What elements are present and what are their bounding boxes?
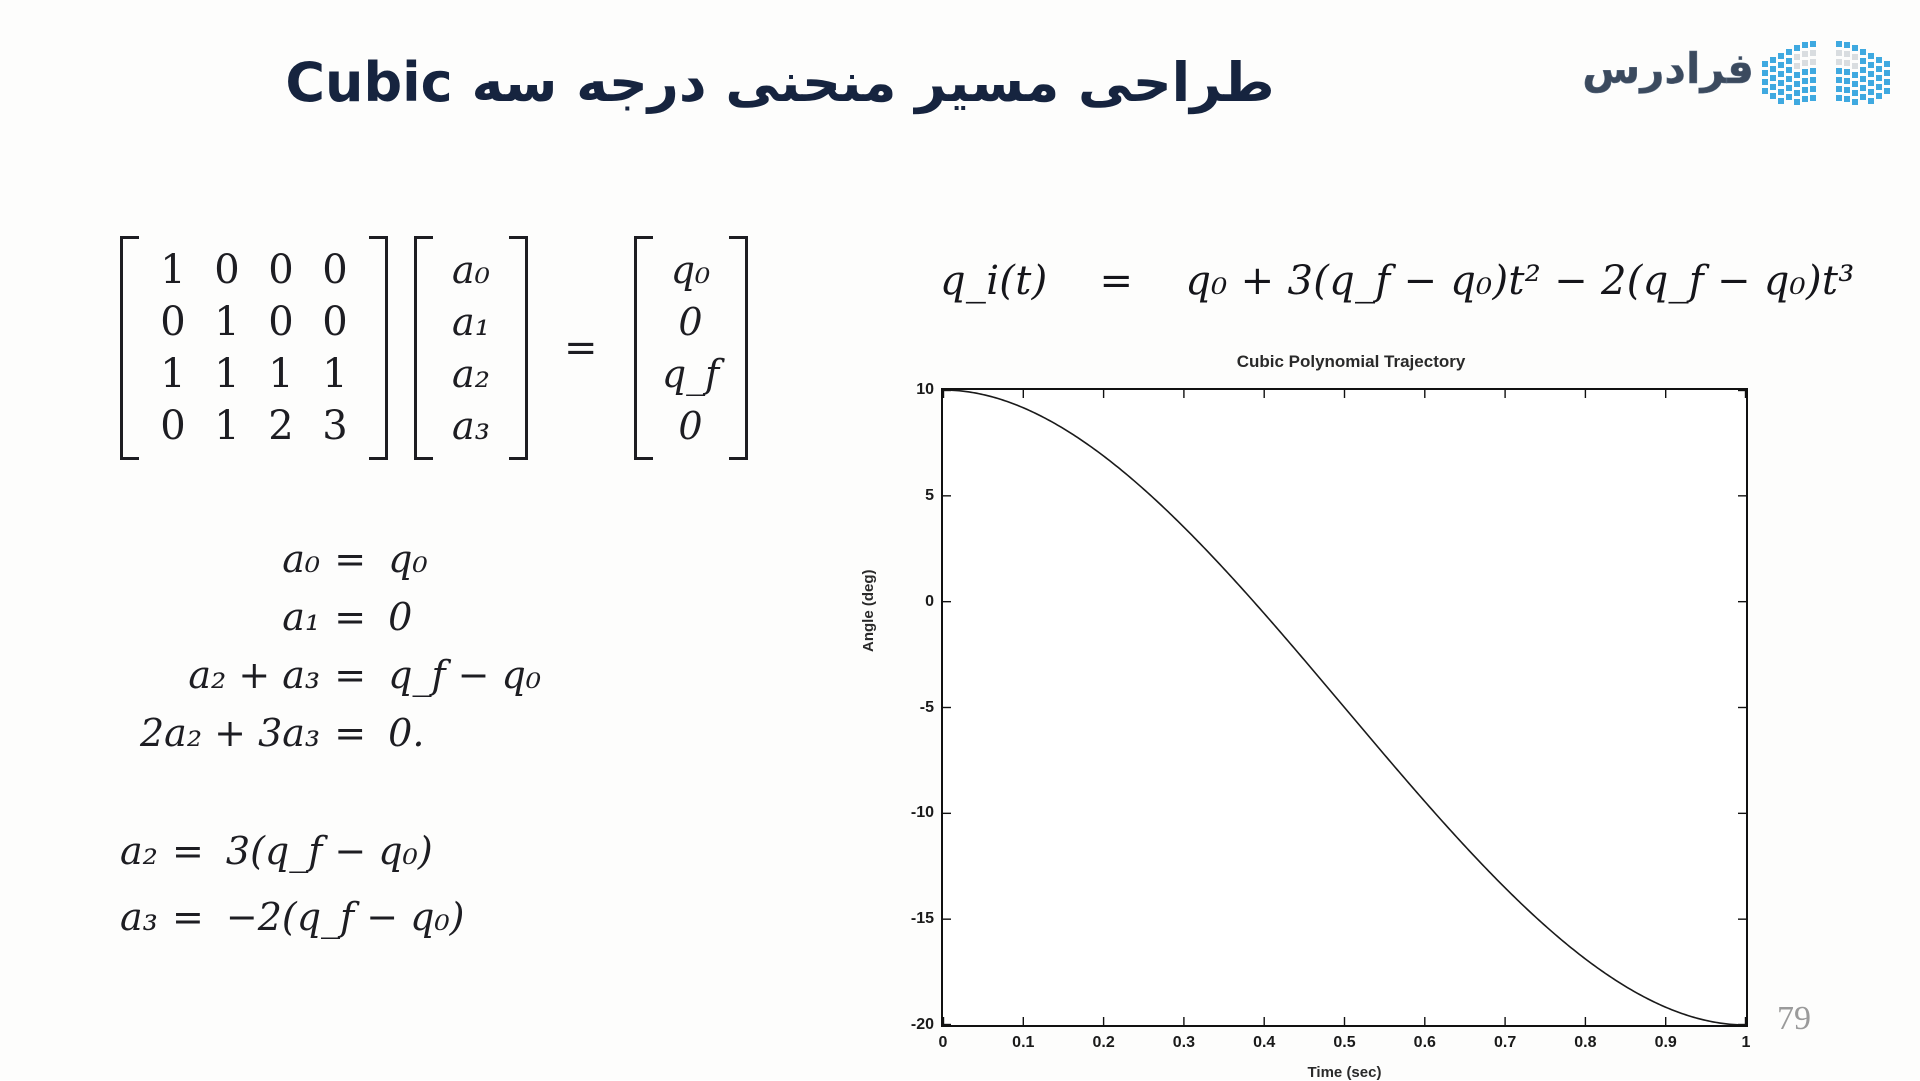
matrix-cell: 1 — [200, 296, 254, 348]
y-tick-label: -20 — [876, 1016, 934, 1034]
matrix-equation: 1 0 0 0 0 1 0 0 1 1 1 1 0 1 2 3 a₀ a₁ a₂… — [120, 236, 748, 460]
trajectory-equation-rhs: q₀ + 3(q_f − q₀)t² − 2(q_f − q₀)t³ — [1185, 258, 1854, 304]
vector-cell: 0 — [660, 296, 722, 348]
x-tick-label: 0.2 — [1074, 1034, 1134, 1052]
rhs-vector-bracket: q₀ 0 q_f 0 — [634, 236, 748, 460]
equation-lhs: a₃ — [120, 884, 158, 950]
equation-relation: = — [320, 646, 380, 704]
trajectory-plot: Cubic Polynomial Trajectory Angle (deg) … — [866, 352, 1766, 1052]
y-tick-label: -10 — [876, 804, 934, 822]
matrix-cell: 1 — [200, 348, 254, 400]
equation-relation: = — [158, 818, 218, 884]
matrix-cell: 1 — [254, 348, 308, 400]
equation-relation: = — [158, 884, 218, 950]
vector-cell: a₃ — [440, 400, 502, 452]
vector-cell: q₀ — [660, 244, 722, 296]
plot-frame — [941, 388, 1748, 1027]
trajectory-equation-lhs: q_i(t) — [940, 258, 1047, 304]
matrix-cell: 0 — [308, 244, 362, 296]
matrix-cell: 2 — [254, 400, 308, 452]
page-number: 79 — [1777, 1000, 1811, 1038]
y-tick-label: 0 — [876, 593, 934, 611]
open-book-icon — [1760, 33, 1892, 111]
matrix-cell: 3 — [308, 400, 362, 452]
coefficient-matrix: 1 0 0 0 0 1 0 0 1 1 1 1 0 1 2 3 — [134, 236, 374, 460]
vector-cell: 0 — [660, 400, 722, 452]
solution-equations: a₂ = 3(q_f − q₀) a₃ = −2(q_f − q₀) — [120, 818, 465, 950]
equals-sign: = — [554, 325, 608, 371]
matrix-cell: 0 — [146, 296, 200, 348]
matrix-cell: 0 — [146, 400, 200, 452]
brand-logo: فرادرس — [1592, 24, 1892, 120]
plot-curve-svg — [943, 390, 1746, 1025]
equation-relation: = — [320, 588, 380, 646]
trajectory-equation-relation: = — [1100, 258, 1134, 304]
matrix-cell: 0 — [308, 296, 362, 348]
y-tick-label: 5 — [876, 487, 934, 505]
vector-cell: a₂ — [440, 348, 502, 400]
equation-relation: = — [320, 704, 380, 762]
matrix-cell: 1 — [200, 400, 254, 452]
unknown-vector: a₀ a₁ a₂ a₃ — [428, 236, 514, 460]
equation-rhs: q_f − q₀ — [380, 646, 541, 704]
unknown-vector-bracket: a₀ a₁ a₂ a₃ — [414, 236, 528, 460]
equation-relation: = — [320, 530, 380, 588]
vector-cell: q_f — [660, 348, 722, 400]
x-tick-label: 0.3 — [1154, 1034, 1214, 1052]
x-tick-label: 0.6 — [1395, 1034, 1455, 1052]
x-tick-label: 0.8 — [1555, 1034, 1615, 1052]
equation-lhs: a₂ + a₃ — [140, 646, 320, 704]
x-tick-label: 0.7 — [1475, 1034, 1535, 1052]
rhs-vector: q₀ 0 q_f 0 — [648, 236, 734, 460]
equation-lhs: a₁ — [140, 588, 320, 646]
matrix-cell: 0 — [200, 244, 254, 296]
y-tick-label: -5 — [876, 699, 934, 717]
coefficient-matrix-bracket: 1 0 0 0 0 1 0 0 1 1 1 1 0 1 2 3 — [120, 236, 388, 460]
vector-cell: a₁ — [440, 296, 502, 348]
trajectory-curve — [943, 390, 1746, 1025]
matrix-cell: 0 — [254, 296, 308, 348]
equation-rhs: 0 — [380, 588, 541, 646]
system-equations: a₀ = q₀ a₁ = 0 a₂ + a₃ = q_f − q₀ 2a₂ + … — [140, 530, 541, 762]
plot-title: Cubic Polynomial Trajectory — [941, 352, 1761, 372]
trajectory-equation: q_i(t) = q₀ + 3(q_f − q₀)t² − 2(q_f − q₀… — [940, 258, 1855, 304]
matrix-cell: 1 — [146, 244, 200, 296]
y-tick-labels: 1050-5-10-15-20 — [866, 388, 934, 1027]
matrix-cell: 0 — [254, 244, 308, 296]
brand-wordmark: فرادرس — [1582, 48, 1754, 96]
x-tick-label: 0 — [913, 1034, 973, 1052]
x-tick-label: 0.4 — [1234, 1034, 1294, 1052]
y-tick-label: -15 — [876, 910, 934, 928]
equation-lhs: a₂ — [120, 818, 158, 884]
equation-rhs: −2(q_f − q₀) — [218, 884, 465, 950]
y-tick-label: 10 — [876, 381, 934, 399]
x-tick-label: 1 — [1716, 1034, 1776, 1052]
x-tick-labels: 00.10.20.30.40.50.60.70.80.91 — [941, 1034, 1748, 1056]
equation-rhs: 3(q_f − q₀) — [218, 818, 465, 884]
matrix-cell: 1 — [308, 348, 362, 400]
equation-lhs: 2a₂ + 3a₃ — [140, 704, 320, 762]
matrix-cell: 1 — [146, 348, 200, 400]
equation-rhs: 0. — [380, 704, 541, 762]
x-tick-label: 0.9 — [1636, 1034, 1696, 1052]
x-tick-label: 0.5 — [1315, 1034, 1375, 1052]
x-tick-label: 0.1 — [993, 1034, 1053, 1052]
x-axis-label: Time (sec) — [941, 1064, 1748, 1081]
equation-rhs: q₀ — [380, 530, 541, 588]
equation-lhs: a₀ — [140, 530, 320, 588]
page-title: طراحی مسیر منحنی درجه سه Cubic — [0, 52, 1560, 114]
vector-cell: a₀ — [440, 244, 502, 296]
